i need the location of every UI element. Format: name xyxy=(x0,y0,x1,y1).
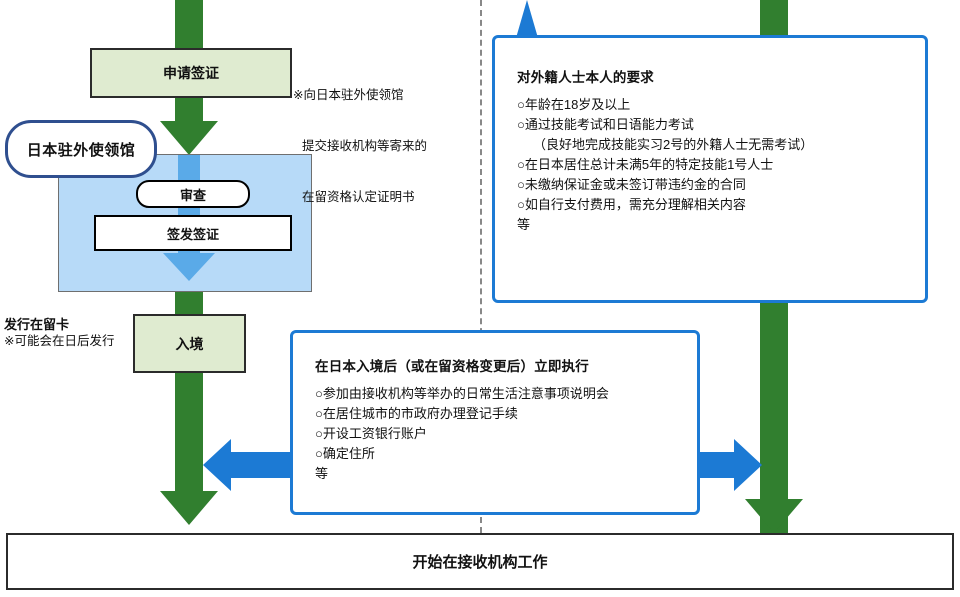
residence-card-title: 发行在留卡 xyxy=(4,316,114,333)
list-item: （良好地完成技能实习2号的外籍人士无需考试） xyxy=(517,135,925,155)
requirements-panel-title: 对外籍人士本人的要求 xyxy=(517,66,925,86)
green-arrowhead-into-work-left xyxy=(160,491,218,525)
visa-submission-note: ※向日本驻外使领馆 提交接收机构等寄来的 在留资格认定证明书 xyxy=(293,53,427,240)
after-entry-list: ○参加由接收机构等举办的日常生活注意事项说明会 ○在居住城市的市政府办理登记手续… xyxy=(315,384,697,484)
requirements-panel: 对外籍人士本人的要求 ○年龄在18岁及以上 ○通过技能考试和日语能力考试 （良好… xyxy=(492,35,928,303)
entry-node[interactable]: 入境 xyxy=(133,314,246,373)
visa-note-line-2: 提交接收机构等寄来的 xyxy=(293,138,427,155)
screening-label: 审查 xyxy=(180,185,206,204)
list-item: ○确定住所 xyxy=(315,444,697,464)
green-arrow-shaft-top xyxy=(175,0,203,48)
apply-visa-node[interactable]: 申请签证 xyxy=(90,48,292,98)
blue-arrowhead-embassy xyxy=(163,253,215,281)
issue-visa-label: 签发签证 xyxy=(167,224,219,243)
after-entry-panel: 在日本入境后（或在留资格变更后）立即执行 ○参加由接收机构等举办的日常生活注意事… xyxy=(290,330,700,515)
connector-arrowhead-right xyxy=(734,439,762,491)
green-arrow-shaft-to-work xyxy=(175,373,203,493)
embassy-label-text: 日本驻外使领馆 xyxy=(27,139,136,160)
visa-note-line-1: ※向日本驻外使领馆 xyxy=(293,87,427,104)
apply-visa-label: 申请签证 xyxy=(163,63,219,83)
residence-card-subnote: ※可能会在日后发行 xyxy=(4,333,114,350)
after-entry-panel-title: 在日本入境后（或在留资格变更后）立即执行 xyxy=(315,355,697,375)
visa-note-line-3: 在留资格认定证明书 xyxy=(293,189,427,206)
start-work-bar[interactable]: 开始在接收机构工作 xyxy=(6,533,954,590)
embassy-label-oval: 日本驻外使领馆 xyxy=(5,120,157,178)
requirements-panel-pointer-icon xyxy=(516,0,538,38)
connector-shaft-left xyxy=(231,452,293,478)
green-arrowhead-into-work-right xyxy=(745,499,803,533)
list-item: ○开设工资银行账户 xyxy=(315,424,697,444)
list-item: ○如自行支付费用，需充分理解相关内容 xyxy=(517,195,925,215)
start-work-label: 开始在接收机构工作 xyxy=(412,551,547,572)
list-item: 等 xyxy=(315,464,697,484)
green-arrowhead-into-embassy xyxy=(160,121,218,155)
residence-card-note: 发行在留卡 ※可能会在日后发行 xyxy=(4,316,114,350)
list-item: ○年龄在18岁及以上 xyxy=(517,95,925,115)
list-item: ○参加由接收机构等举办的日常生活注意事项说明会 xyxy=(315,384,697,404)
connector-arrowhead-left xyxy=(203,439,231,491)
list-item: ○通过技能考试和日语能力考试 xyxy=(517,115,925,135)
green-arrow-shaft-to-entry xyxy=(175,292,203,314)
flowchart-canvas: 日本驻外使领馆 审查 签发签证 申请签证 ※向日本驻外使领馆 提交接收机构等寄来… xyxy=(0,0,960,597)
requirements-list: ○年龄在18岁及以上 ○通过技能考试和日语能力考试 （良好地完成技能实习2号的外… xyxy=(517,95,925,235)
entry-label: 入境 xyxy=(176,334,204,354)
issue-visa-node[interactable]: 签发签证 xyxy=(94,215,292,251)
list-item: 等 xyxy=(517,215,925,235)
list-item: ○未缴纳保证金或未签订带违约金的合同 xyxy=(517,175,925,195)
screening-node[interactable]: 审查 xyxy=(136,180,250,208)
list-item: ○在日本居住总计未满5年的特定技能1号人士 xyxy=(517,155,925,175)
list-item: ○在居住城市的市政府办理登记手续 xyxy=(315,404,697,424)
